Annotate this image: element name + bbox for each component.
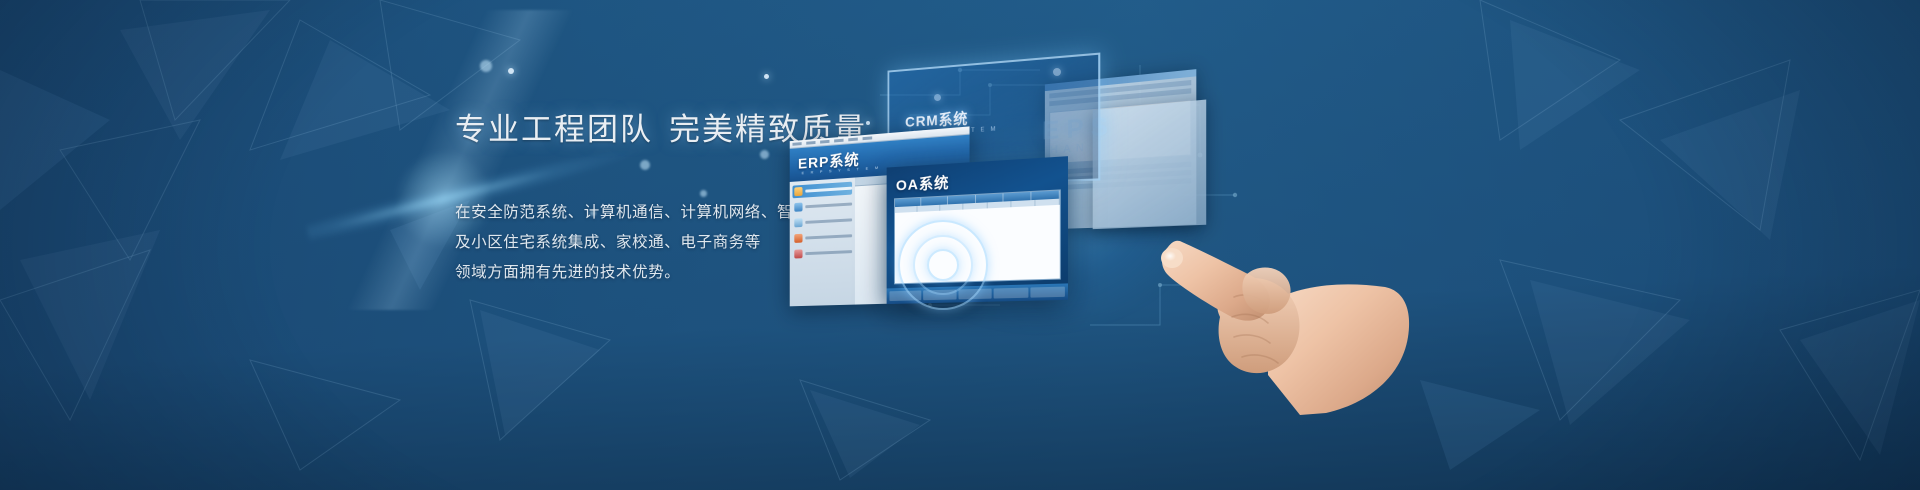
erp-nav-item[interactable] bbox=[792, 229, 852, 245]
erp-nav-item[interactable] bbox=[792, 198, 852, 214]
chart-icon bbox=[794, 234, 802, 243]
erp-nav-item[interactable] bbox=[792, 182, 852, 199]
oa-window[interactable]: OA系统 bbox=[887, 156, 1068, 304]
erp-nav-item[interactable] bbox=[792, 245, 852, 260]
erp-nav-column[interactable] bbox=[790, 178, 855, 307]
headline-part-1: 专业工程团队 bbox=[455, 112, 653, 148]
oa-grid-body bbox=[895, 205, 1060, 284]
bokeh-dot bbox=[508, 68, 514, 74]
doc-icon bbox=[794, 218, 802, 227]
software-screens-cluster: EPS HAN CRM系统 C R M S Y S T E M ERP系统 E … bbox=[770, 35, 1240, 365]
calendar-icon bbox=[794, 249, 802, 258]
hero-banner: 专业工程团队完美精致质量 在安全防范系统、计算机通信、计算机网络、智能大厦 及小… bbox=[0, 0, 1920, 490]
sparkle bbox=[480, 60, 492, 72]
bokeh-dot bbox=[764, 74, 769, 79]
erp-nav-item[interactable] bbox=[792, 213, 852, 229]
oa-window-title: OA系统 bbox=[896, 172, 949, 196]
gear-icon bbox=[794, 203, 802, 212]
oa-data-grid[interactable] bbox=[894, 189, 1061, 284]
folder-icon bbox=[794, 187, 802, 196]
